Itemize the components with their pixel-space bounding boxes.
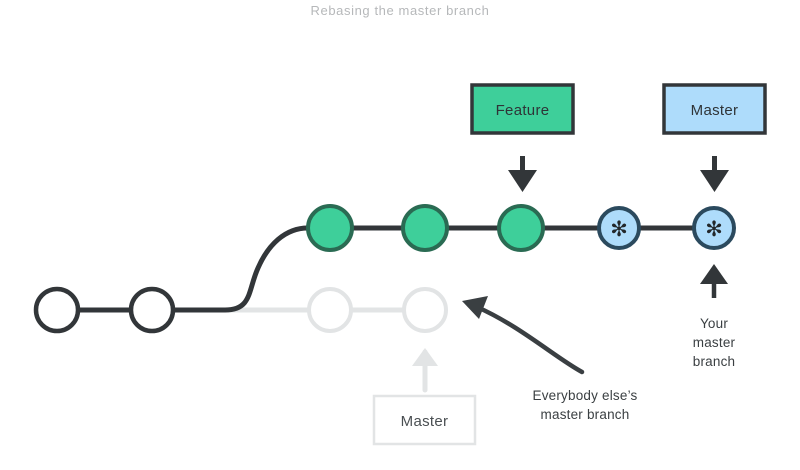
- your-master-branch-caption-line-1: Your: [700, 316, 728, 331]
- everybody-else-caption-line-2: master branch: [541, 407, 630, 422]
- base-commit-2[interactable]: [131, 289, 173, 331]
- asterisk-icon: ✻: [705, 217, 723, 241]
- feature-arrow-down-icon: [508, 156, 537, 192]
- old-master-box-label: Master: [401, 413, 449, 430]
- branch-curve: [173, 228, 308, 310]
- feature-commit-3[interactable]: [499, 206, 543, 250]
- everybody-else-caption-line-1: Everybody else’s: [532, 388, 637, 403]
- base-commit-1[interactable]: [36, 289, 78, 331]
- master-box-label: Master: [691, 102, 739, 119]
- diagram-canvas: Rebasing the master branch Master: [0, 0, 800, 470]
- your-master-branch-caption-line-2: master: [693, 335, 736, 350]
- your-master-branch-caption-line-3: branch: [693, 354, 735, 369]
- feature-commit-1[interactable]: [308, 206, 352, 250]
- everybody-else-curved-arrow-icon: [462, 296, 582, 372]
- your-master-arrow-up-icon: [700, 264, 728, 298]
- asterisk-icon: ✻: [610, 217, 628, 241]
- diagram-title: Rebasing the master branch: [311, 3, 490, 18]
- git-rebase-diagram: Rebasing the master branch Master: [0, 0, 800, 470]
- ghost-commit-2[interactable]: [404, 289, 446, 331]
- master-commit-1-group[interactable]: ✻: [599, 208, 639, 248]
- feature-box-label: Feature: [496, 102, 550, 119]
- ghost-commit-1[interactable]: [309, 289, 351, 331]
- master-arrow-down-icon: [700, 156, 729, 192]
- feature-commit-2[interactable]: [403, 206, 447, 250]
- master-commit-2-group[interactable]: ✻: [694, 208, 734, 248]
- old-master-arrow-up-icon: [412, 348, 438, 390]
